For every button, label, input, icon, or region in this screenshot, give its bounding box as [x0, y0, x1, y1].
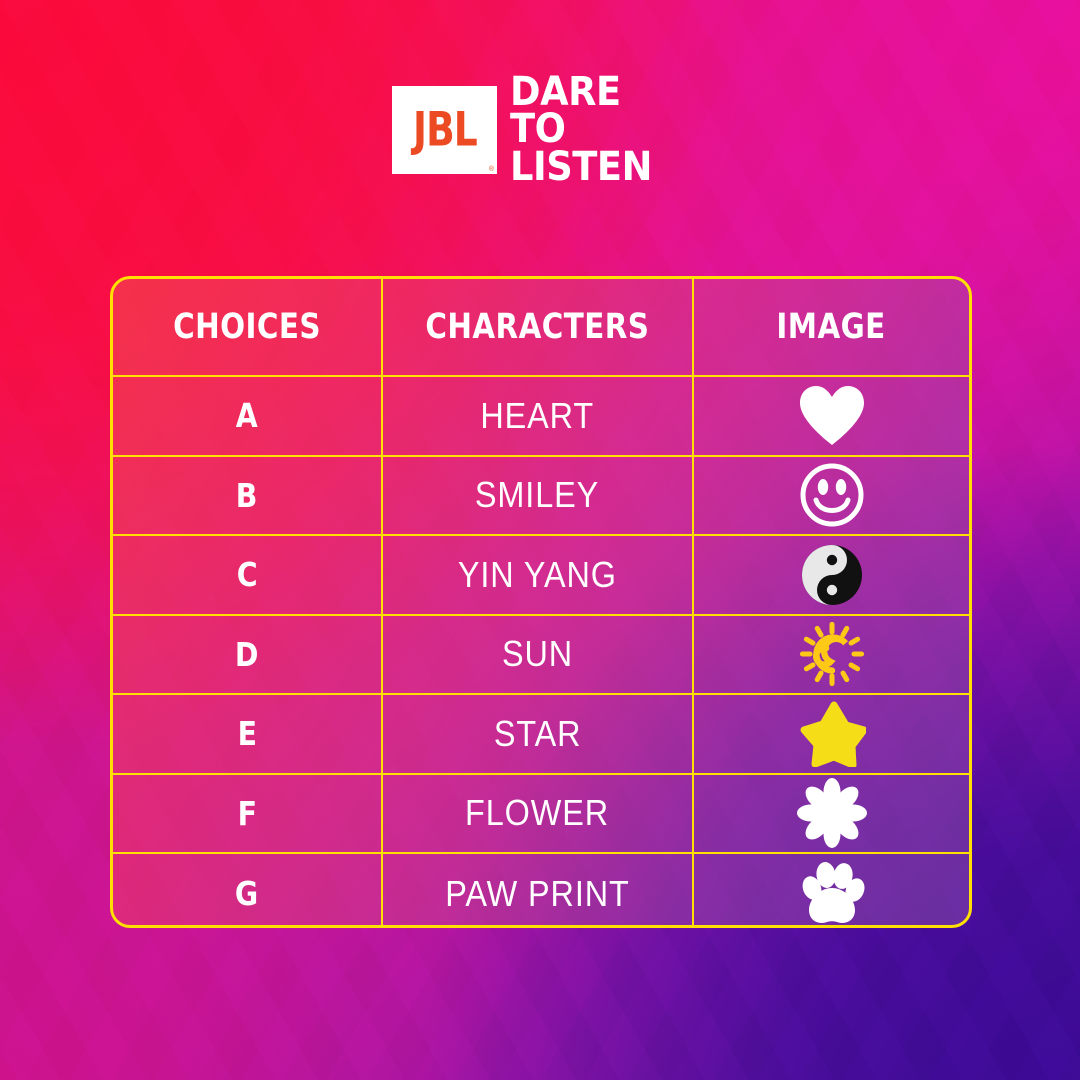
table-row[interactable]: D SUN — [113, 616, 969, 696]
header-label-characters: CHARACTERS — [425, 307, 649, 347]
tagline-line-1: DARE TO — [510, 74, 683, 148]
table-row[interactable]: C YIN YANG — [113, 536, 969, 616]
cell-character: PAW PRINT — [383, 854, 694, 928]
cell-choice: E — [113, 695, 383, 773]
header-cell-choices: CHOICES — [113, 279, 383, 375]
choice-letter: A — [236, 396, 258, 435]
header-cell-characters: CHARACTERS — [383, 279, 694, 375]
poster-canvas: JBL ® DARE TO LISTEN CHOICES CHARACTERS … — [0, 0, 1080, 1080]
choice-letter: F — [237, 794, 256, 833]
table-row[interactable]: A HEART — [113, 377, 969, 457]
cell-choice: A — [113, 377, 383, 455]
cell-choice: F — [113, 775, 383, 853]
cell-image — [694, 775, 969, 853]
header-label-image: IMAGE — [777, 307, 886, 347]
jbl-logo-box: JBL ® — [392, 86, 497, 174]
cell-character: FLOWER — [383, 775, 694, 853]
choice-letter: G — [235, 874, 258, 913]
choices-table: CHOICES CHARACTERS IMAGE A HEART — [110, 276, 972, 928]
choice-letter: E — [237, 714, 256, 753]
character-name: PAW PRINT — [445, 873, 630, 915]
character-name: SMILEY — [475, 474, 599, 516]
character-name: HEART — [481, 395, 595, 437]
registered-trademark-icon: ® — [489, 166, 494, 173]
yin-yang-icon — [797, 541, 867, 609]
cell-image — [694, 377, 969, 455]
cell-choice: C — [113, 536, 383, 614]
brand-tagline: DARE TO LISTEN — [510, 86, 698, 174]
header-cell-image: IMAGE — [694, 279, 969, 375]
cell-character: SUN — [383, 616, 694, 694]
cell-image — [694, 854, 969, 928]
cell-image — [694, 457, 969, 535]
table-header-row: CHOICES CHARACTERS IMAGE — [113, 279, 969, 377]
star-icon — [797, 700, 867, 768]
cell-character: STAR — [383, 695, 694, 773]
choice-letter: D — [235, 635, 259, 674]
brand-lockup: JBL ® DARE TO LISTEN — [392, 86, 698, 174]
cell-choice: B — [113, 457, 383, 535]
cell-character: YIN YANG — [383, 536, 694, 614]
cell-image — [694, 536, 969, 614]
cell-image — [694, 616, 969, 694]
cell-character: HEART — [383, 377, 694, 455]
header-label-choices: CHOICES — [173, 307, 321, 347]
character-name: YIN YANG — [458, 554, 617, 596]
smiley-icon — [797, 461, 867, 529]
tagline-line-2: LISTEN — [510, 149, 683, 186]
cell-choice: D — [113, 616, 383, 694]
choice-letter: C — [237, 555, 258, 594]
table-row[interactable]: B SMILEY — [113, 457, 969, 537]
table-row[interactable]: F FLOWER — [113, 775, 969, 855]
cell-choice: G — [113, 854, 383, 928]
sun-icon — [797, 620, 867, 688]
cell-image — [694, 695, 969, 773]
table-row[interactable]: E STAR — [113, 695, 969, 775]
table-row[interactable]: G PAW PRINT — [113, 854, 969, 928]
character-name: FLOWER — [465, 792, 609, 834]
heart-icon — [797, 382, 867, 450]
cell-character: SMILEY — [383, 457, 694, 535]
paw-print-icon — [797, 860, 867, 928]
character-name: SUN — [502, 633, 573, 675]
character-name: STAR — [494, 713, 582, 755]
flower-icon — [797, 779, 867, 847]
choice-letter: B — [236, 476, 258, 515]
jbl-logo-text: JBL — [413, 106, 477, 153]
